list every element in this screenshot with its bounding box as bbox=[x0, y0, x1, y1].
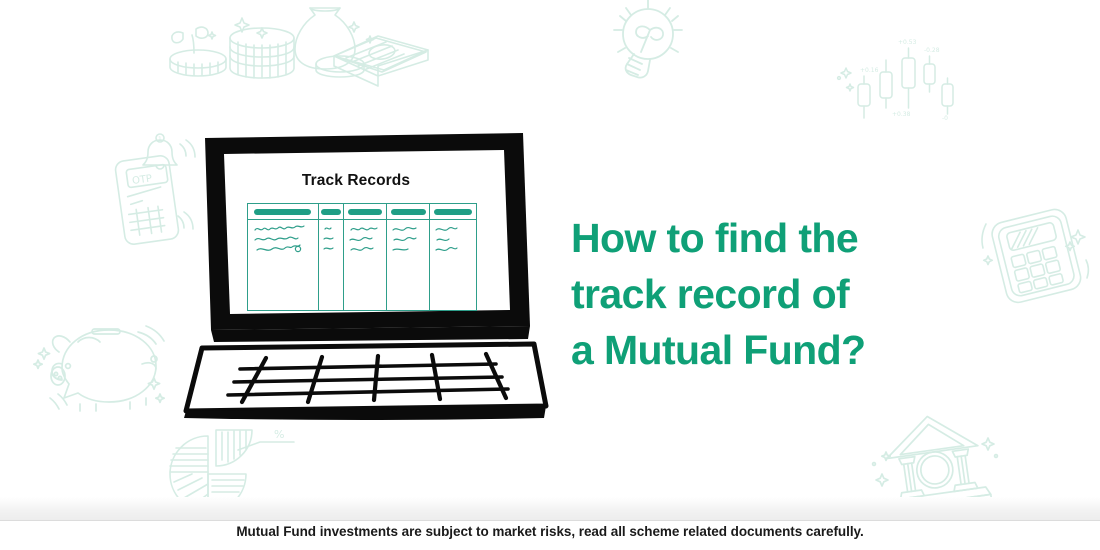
candlestick-chart-icon: +0.16 +0.38 +0.53 -0.28 -0 bbox=[836, 36, 958, 128]
svg-text:+0.53: +0.53 bbox=[898, 39, 917, 46]
table-column-1 bbox=[248, 204, 319, 310]
header-bar bbox=[254, 209, 311, 215]
table-column-5-body bbox=[430, 220, 476, 259]
header-bar bbox=[321, 209, 341, 215]
header-bar bbox=[391, 209, 426, 215]
money-coins-cash-icon bbox=[150, 2, 360, 84]
footer-divider bbox=[0, 497, 1100, 521]
header-bar bbox=[348, 209, 383, 215]
table-column-4-body bbox=[387, 220, 429, 259]
table-column-3 bbox=[344, 204, 387, 310]
table-column-2-body bbox=[319, 220, 343, 259]
banner-canvas: +0.16 +0.38 +0.53 -0.28 -0 OTP 1 bbox=[0, 0, 1100, 550]
table-column-5-header bbox=[430, 204, 476, 220]
svg-text:+0.16: +0.16 bbox=[860, 67, 879, 74]
page-title: How to find the track record of a Mutual… bbox=[571, 210, 971, 378]
headline-line-1: How to find the bbox=[571, 210, 971, 266]
header-bar bbox=[434, 209, 471, 215]
table-column-2 bbox=[319, 204, 344, 310]
svg-text:-0.28: -0.28 bbox=[924, 47, 940, 54]
svg-text:+0.38: +0.38 bbox=[892, 111, 911, 118]
table-column-1-body bbox=[248, 220, 318, 259]
laptop-screen-content: Track Records bbox=[225, 161, 487, 318]
table-column-1-header bbox=[248, 204, 318, 220]
headline-line-3: a Mutual Fund? bbox=[571, 322, 971, 378]
lightbulb-icon bbox=[598, 0, 703, 84]
calculator-icon bbox=[982, 202, 1097, 308]
screen-title: Track Records bbox=[225, 172, 487, 190]
table-column-4 bbox=[387, 204, 430, 310]
table-column-5 bbox=[430, 204, 476, 310]
disclaimer-text: Mutual Fund investments are subject to m… bbox=[0, 524, 1100, 539]
table-column-3-body bbox=[344, 220, 386, 259]
headline-line-2: track record of bbox=[571, 266, 971, 322]
table-column-4-header bbox=[387, 204, 429, 220]
svg-text:OTP: OTP bbox=[131, 173, 152, 187]
table-column-3-header bbox=[344, 204, 386, 220]
svg-text:%: % bbox=[274, 428, 284, 441]
svg-text:1: 1 bbox=[158, 136, 162, 143]
piggy-bank-icon bbox=[30, 314, 170, 418]
svg-text:-0: -0 bbox=[942, 115, 948, 122]
table-column-2-header bbox=[319, 204, 343, 220]
track-records-table bbox=[247, 203, 477, 311]
